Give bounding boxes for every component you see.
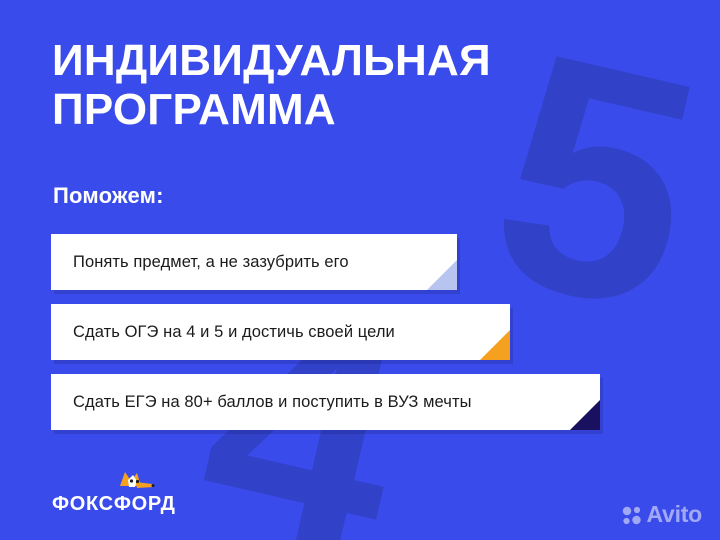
- benefit-card-list: Понять предмет, а не зазубрить его Сдать…: [51, 234, 600, 444]
- avito-dots-icon: [622, 505, 642, 525]
- fox-icon: [118, 470, 158, 492]
- benefit-card: Сдать ОГЭ на 4 и 5 и достичь своей цели: [51, 304, 510, 360]
- section-subheading: Поможем:: [53, 183, 164, 209]
- avito-watermark: Avito: [622, 501, 703, 528]
- folded-corner-icon: [570, 400, 600, 430]
- avito-label: Avito: [647, 501, 703, 528]
- page-title: ИНДИВИДУАЛЬНАЯ ПРОГРАММА: [52, 36, 652, 135]
- promo-poster: 5 4 ИНДИВИДУАЛЬНАЯ ПРОГРАММА Поможем: По…: [0, 0, 720, 540]
- brand-logo: ФОКСФОРД: [52, 470, 242, 516]
- brand-wordmark: ФОКСФОРД: [52, 493, 176, 516]
- benefit-card: Понять предмет, а не зазубрить его: [51, 234, 457, 290]
- benefit-card: Сдать ЕГЭ на 80+ баллов и поступить в ВУ…: [51, 374, 600, 430]
- folded-corner-icon: [427, 260, 457, 290]
- folded-corner-icon: [480, 330, 510, 360]
- benefit-card-text: Сдать ОГЭ на 4 и 5 и достичь своей цели: [51, 323, 433, 342]
- benefit-card-text: Сдать ЕГЭ на 80+ баллов и поступить в ВУ…: [51, 393, 510, 412]
- benefit-card-text: Понять предмет, а не зазубрить его: [51, 253, 387, 272]
